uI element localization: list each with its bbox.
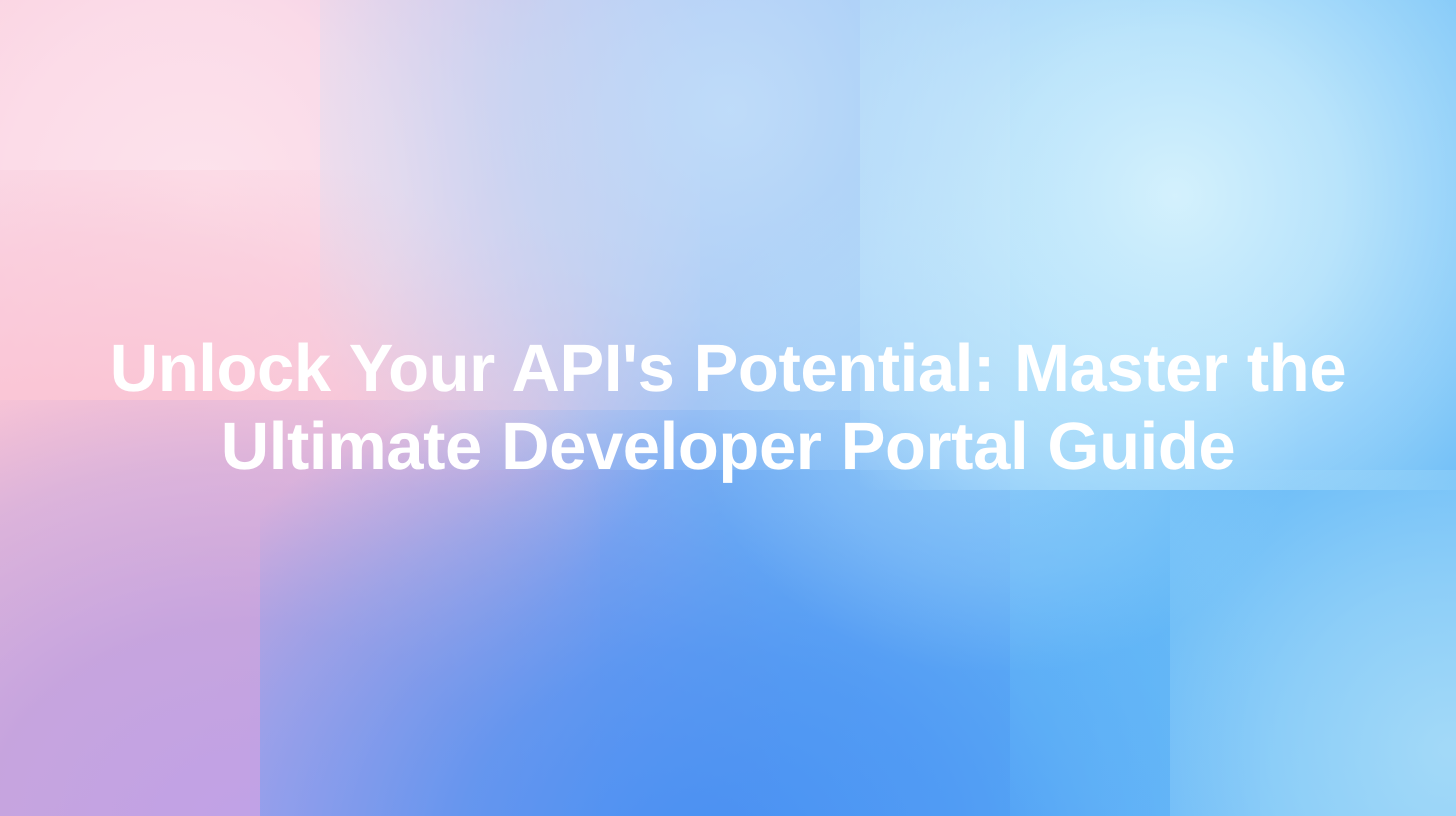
hero-banner: Unlock Your API's Potential: Master the … (0, 0, 1456, 816)
page-title: Unlock Your API's Potential: Master the … (28, 330, 1428, 486)
headline-container: Unlock Your API's Potential: Master the … (0, 0, 1456, 816)
